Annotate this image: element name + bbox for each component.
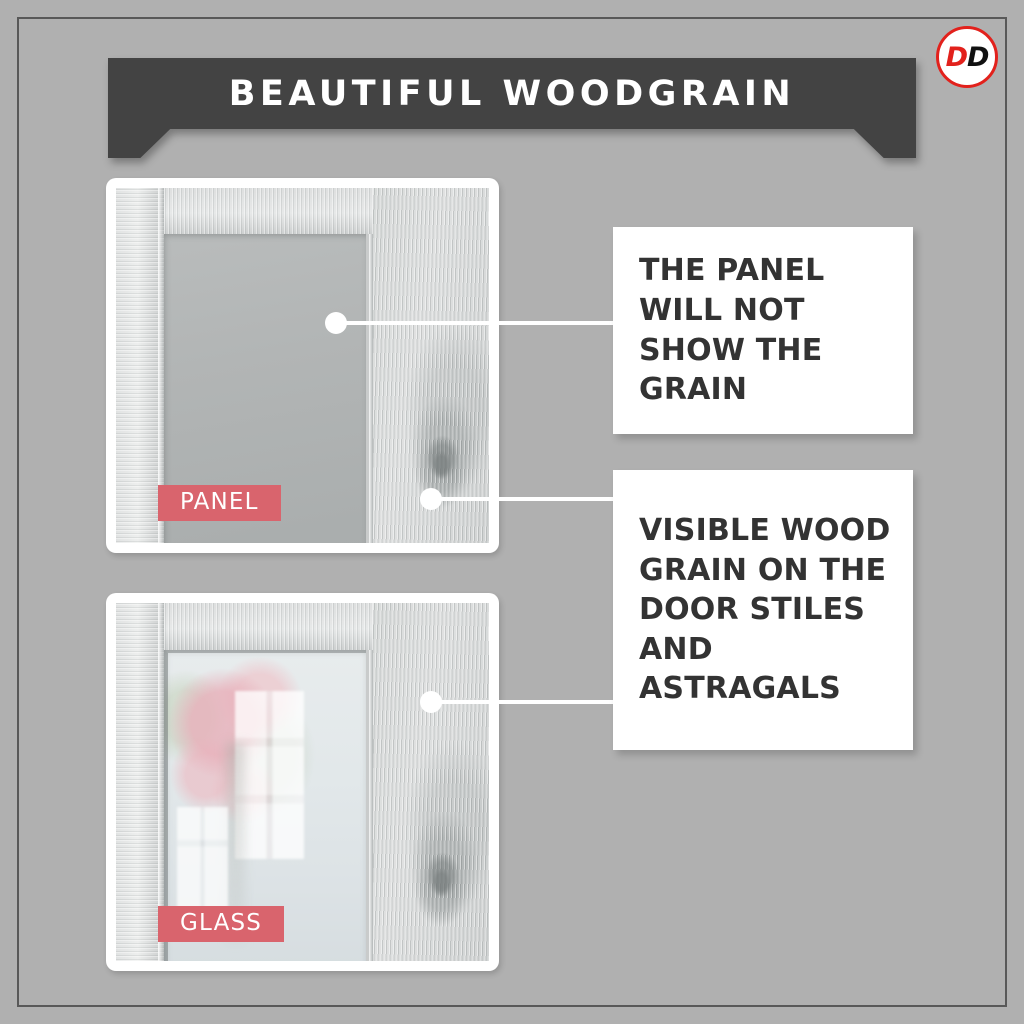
leader-dot-grain-bottom xyxy=(420,691,442,713)
stile-seam-line xyxy=(369,603,373,961)
callout-grain: VISIBLE WOOD GRAIN ON THE DOOR STILES AN… xyxy=(613,470,913,750)
infographic-canvas: DD BEAUTIFUL WOODGRAIN PANEL GLASS xyxy=(0,0,1024,1024)
brand-logo-dd[interactable]: DD xyxy=(936,26,998,88)
leader-line-grain-top xyxy=(435,497,615,501)
woodgrain-stile-texture xyxy=(373,603,489,961)
callout-grain-text: VISIBLE WOOD GRAIN ON THE DOOR STILES AN… xyxy=(613,511,913,709)
stile-seam-line xyxy=(369,188,373,543)
badge-glass: GLASS xyxy=(158,906,284,942)
logo-letter-first: D xyxy=(946,42,967,73)
leader-line-grain-bottom xyxy=(435,700,615,704)
leader-line-panel xyxy=(340,321,615,325)
page-title: BEAUTIFUL WOODGRAIN xyxy=(108,58,916,129)
callout-panel-text: THE PANEL WILL NOT SHOW THE GRAIN xyxy=(613,251,913,409)
badge-panel: PANEL xyxy=(158,485,281,521)
logo-letter-second: D xyxy=(967,42,988,73)
title-banner: BEAUTIFUL WOODGRAIN xyxy=(108,58,916,158)
leader-dot-grain-top xyxy=(420,488,442,510)
leader-dot-panel xyxy=(325,312,347,334)
callout-panel: THE PANEL WILL NOT SHOW THE GRAIN xyxy=(613,227,913,434)
